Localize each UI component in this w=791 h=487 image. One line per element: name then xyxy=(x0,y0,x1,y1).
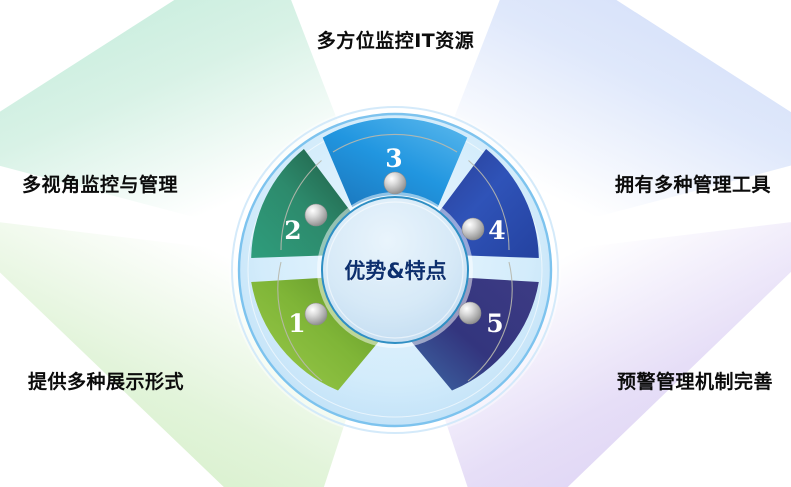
segment-number-1: 1 xyxy=(288,309,305,338)
marker-ball-1[interactable] xyxy=(305,303,327,325)
segment-number-2: 2 xyxy=(284,216,301,245)
label-left-top: 多视角监控与管理 xyxy=(22,170,178,197)
infographic-stage: 1 2 3 4 5 优势&特点 多方位监控IT资源 多视角监控与管理 拥有多种管… xyxy=(0,0,791,487)
label-left-bottom: 提供多种展示形式 xyxy=(28,367,184,394)
segment-number-3: 3 xyxy=(385,144,402,173)
label-top: 多方位监控IT资源 xyxy=(0,26,791,53)
center-disc[interactable] xyxy=(322,197,468,343)
segment-number-4: 4 xyxy=(488,216,505,245)
segment-wheel: 1 2 3 4 5 xyxy=(0,0,791,487)
label-right-bottom: 预警管理机制完善 xyxy=(617,367,773,394)
label-right-top: 拥有多种管理工具 xyxy=(615,170,771,197)
marker-ball-3[interactable] xyxy=(384,172,406,194)
marker-ball-5[interactable] xyxy=(459,302,481,324)
marker-ball-4[interactable] xyxy=(462,218,484,240)
segment-number-5: 5 xyxy=(486,309,503,338)
marker-ball-2[interactable] xyxy=(305,204,327,226)
